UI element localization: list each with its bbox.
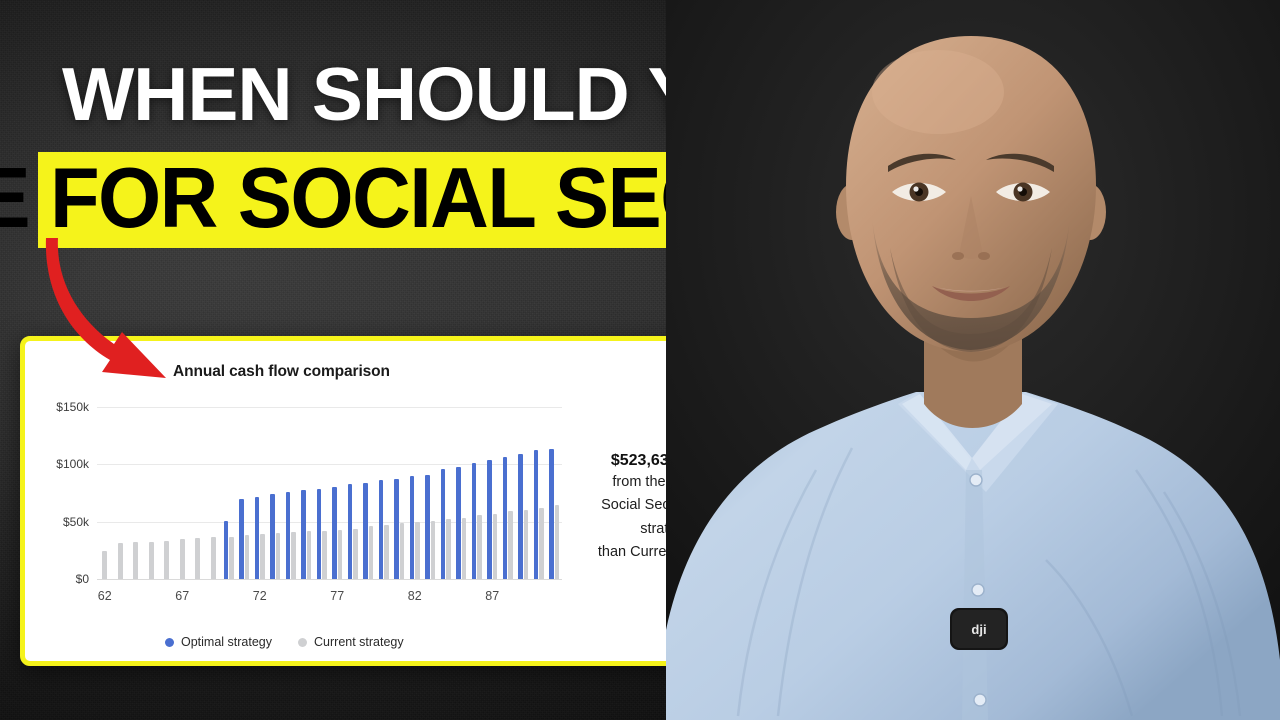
legend-label-current: Current strategy: [314, 635, 404, 649]
bar-slot: [144, 407, 160, 579]
legend-item-optimal: Optimal strategy: [165, 635, 272, 649]
legend-dot-optimal-icon: [165, 638, 174, 647]
bar-slot: [252, 407, 268, 579]
bar-current: [195, 538, 200, 579]
bar-slot: [392, 407, 408, 579]
bar-current: [446, 519, 451, 579]
y-axis-tick-label: $0: [76, 572, 89, 586]
x-axis-tick-label: 77: [330, 589, 344, 603]
bar-current: [353, 529, 358, 579]
bar-current: [260, 534, 265, 579]
bar-slot: [361, 407, 377, 579]
bar-optimal: [270, 494, 275, 579]
bar-slot: [159, 407, 175, 579]
bar-optimal: [379, 480, 384, 579]
x-axis-tick-label: 87: [485, 589, 499, 603]
bar-slot: [237, 407, 253, 579]
bar-slot: [438, 407, 454, 579]
bar-optimal: [394, 479, 399, 579]
bar-optimal: [472, 463, 477, 579]
bar-slot: [206, 407, 222, 579]
y-axis-tick-label: $50k: [63, 515, 89, 529]
bar-slot: [330, 407, 346, 579]
bar-current: [400, 523, 405, 579]
bar-current: [276, 533, 281, 579]
bar-optimal: [255, 497, 260, 579]
svg-text:dji: dji: [971, 622, 986, 637]
bar-current: [229, 537, 234, 579]
bar-current: [164, 541, 169, 579]
bar-current: [539, 508, 544, 579]
legend-dot-current-icon: [298, 638, 307, 647]
shirt-button-2: [972, 584, 984, 596]
bar-current: [477, 515, 482, 579]
chart-title: Annual cash flow comparison: [173, 363, 390, 381]
bar-optimal: [224, 521, 229, 579]
bar-slot: [345, 407, 361, 579]
bar-slot: [485, 407, 501, 579]
bar-optimal: [301, 490, 306, 579]
bar-optimal: [286, 492, 291, 579]
bar-slot: [175, 407, 191, 579]
y-axis-tick-label: $100k: [56, 457, 89, 471]
bar-slot: [97, 407, 113, 579]
bar-optimal: [549, 449, 554, 579]
bar-current: [291, 532, 296, 579]
bar-slot: [113, 407, 129, 579]
bar-current: [211, 537, 216, 579]
bar-current: [180, 539, 185, 579]
bar-optimal: [410, 476, 415, 579]
bar-slot: [283, 407, 299, 579]
bar-slot: [516, 407, 532, 579]
bar-slot: [531, 407, 547, 579]
bar-slot: [469, 407, 485, 579]
bar-optimal: [363, 483, 368, 579]
bar-slot: [547, 407, 563, 579]
bar-current: [555, 505, 560, 579]
bar-current: [415, 522, 420, 579]
bar-current: [338, 530, 343, 579]
bar-slot: [376, 407, 392, 579]
bar-current: [369, 526, 374, 579]
bar-optimal: [456, 467, 461, 579]
bar-optimal: [487, 460, 492, 579]
bar-current: [133, 542, 138, 579]
bar-slot: [407, 407, 423, 579]
bar-current: [245, 535, 250, 579]
bar-slot: [221, 407, 237, 579]
x-axis-tick-label: 82: [408, 589, 422, 603]
scalp-highlight: [872, 50, 1004, 134]
bar-current: [322, 531, 327, 579]
presenter-photo: dji: [666, 0, 1280, 720]
x-axis-labels: 626772778287: [97, 589, 562, 607]
bar-optimal: [239, 499, 244, 579]
x-axis-line: [97, 579, 562, 580]
plot-area: $0$50k$100k$150k: [97, 407, 562, 579]
bar-current: [493, 514, 498, 579]
x-axis-tick-label: 67: [175, 589, 189, 603]
bar-optimal: [518, 454, 523, 579]
bar-current: [524, 510, 529, 579]
bar-current: [384, 525, 389, 579]
bar-slot: [454, 407, 470, 579]
y-axis-tick-label: $150k: [56, 400, 89, 414]
bar-slot: [268, 407, 284, 579]
bar-slot: [314, 407, 330, 579]
legend-label-optimal: Optimal strategy: [181, 635, 272, 649]
chart-plot: $0$50k$100k$150k 626772778287: [97, 407, 562, 666]
bar-current: [431, 521, 436, 579]
bar-group: [97, 407, 562, 579]
bar-slot: [128, 407, 144, 579]
bar-optimal: [534, 450, 539, 579]
shirt-button-1: [970, 474, 982, 486]
bar-current: [508, 511, 513, 579]
dji-microphone: dji: [950, 608, 1008, 650]
bar-optimal: [503, 457, 508, 579]
x-axis-tick-label: 62: [98, 589, 112, 603]
bar-slot: [190, 407, 206, 579]
legend-item-current: Current strategy: [298, 635, 404, 649]
bar-current: [462, 518, 467, 579]
bar-current: [118, 543, 123, 579]
bar-current: [149, 542, 154, 579]
bar-optimal: [441, 469, 446, 579]
curved-down-right-arrow-icon: [18, 232, 188, 392]
bar-current: [307, 531, 312, 579]
bar-slot: [299, 407, 315, 579]
bar-optimal: [348, 484, 353, 579]
bar-current: [102, 551, 107, 579]
bar-slot: [500, 407, 516, 579]
x-axis-tick-label: 72: [253, 589, 267, 603]
bar-optimal: [332, 487, 337, 579]
chart-legend: Optimal strategy Current strategy: [165, 635, 404, 649]
bar-optimal: [317, 489, 322, 579]
bar-optimal: [425, 475, 430, 579]
shirt-button-3: [974, 694, 986, 706]
bar-slot: [423, 407, 439, 579]
